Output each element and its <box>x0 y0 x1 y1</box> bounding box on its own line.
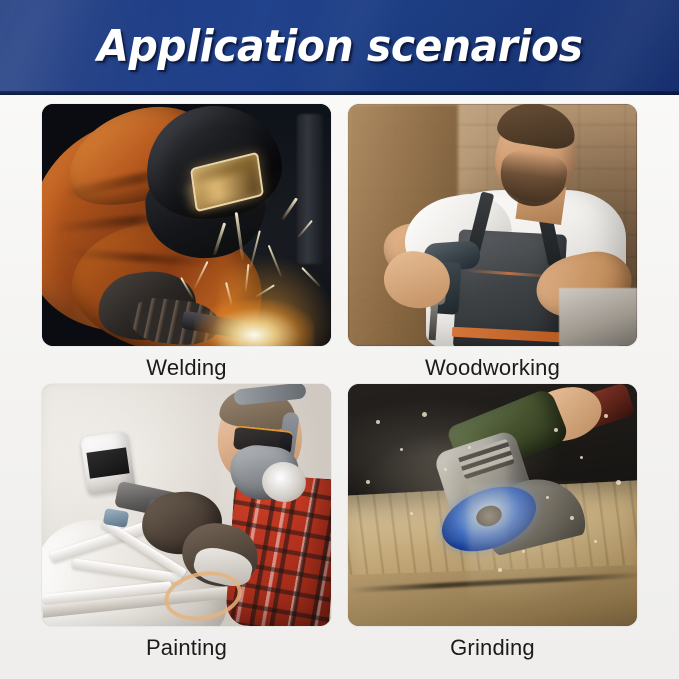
dust-particle <box>546 496 549 499</box>
caption-welding: Welding <box>42 355 331 381</box>
dust-particle <box>468 446 471 449</box>
application-scenarios-page: Application scenarios <box>0 0 679 679</box>
dust-particle <box>366 480 370 484</box>
welding-photo <box>42 104 331 346</box>
dust-particle <box>422 412 427 417</box>
dust-particle <box>522 550 525 553</box>
caption-grinding: Grinding <box>348 635 637 661</box>
dust-particle <box>554 428 558 432</box>
dust-particle <box>616 480 621 485</box>
spray-gun-cup-label <box>86 447 129 478</box>
dust-particle <box>400 448 403 451</box>
painting-photo <box>42 384 331 626</box>
weld-flash <box>194 300 314 346</box>
workbench-piece <box>559 288 637 346</box>
dust-particle <box>604 414 608 418</box>
caption-woodworking: Woodworking <box>348 355 637 381</box>
page-title-text: Application scenarios <box>97 25 582 69</box>
scenario-card-grinding[interactable]: Grinding <box>348 384 637 661</box>
dust-particle <box>594 540 597 543</box>
dust-particle <box>580 456 583 459</box>
scenario-card-woodworking[interactable]: Woodworking <box>348 104 637 381</box>
grinding-photo <box>348 384 637 626</box>
page-title: Application scenarios <box>0 25 679 69</box>
dust-particle <box>498 568 502 572</box>
dust-particle <box>410 512 413 515</box>
dust-particle <box>444 468 447 471</box>
scenario-card-welding[interactable]: Welding <box>42 104 331 381</box>
dust-particle <box>570 516 574 520</box>
header-banner: Application scenarios <box>0 0 679 95</box>
dust-cloud-left <box>348 424 508 544</box>
woodworking-photo <box>348 104 637 346</box>
dust-particle <box>376 420 380 424</box>
scenario-card-painting[interactable]: Painting <box>42 384 331 661</box>
caption-painting: Painting <box>42 635 331 661</box>
welding-pipe <box>297 114 323 264</box>
